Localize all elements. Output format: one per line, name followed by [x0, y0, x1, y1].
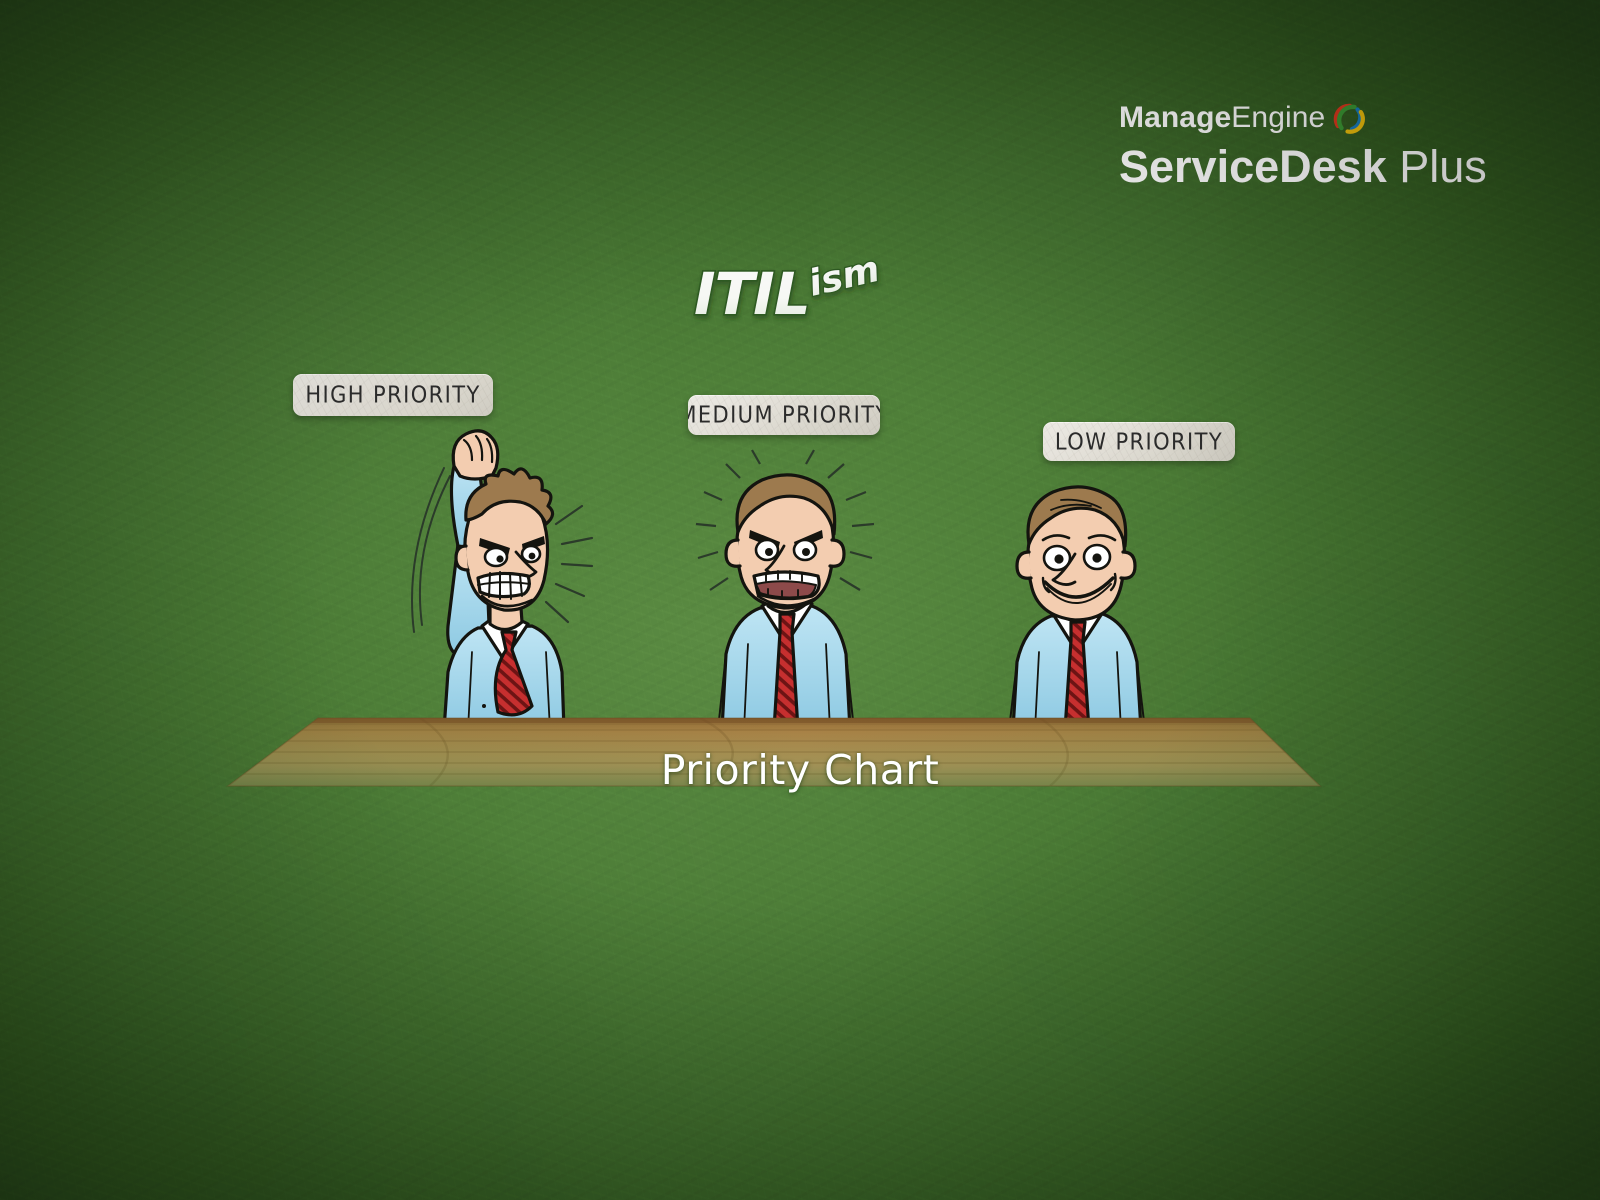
chart-caption: Priority Chart	[0, 746, 1600, 794]
product-main: ServiceDesk	[1119, 141, 1387, 192]
product-suffix: Plus	[1399, 141, 1487, 192]
label-low-priority-text: LOW PRIORITY	[1055, 429, 1223, 455]
manageengine-logo: ManageEngine ServiceDesk Plus	[1119, 100, 1539, 191]
label-medium-priority[interactable]: MEDIUM PRIORITY	[688, 395, 880, 435]
label-medium-priority-text: MEDIUM PRIORITY	[688, 402, 880, 428]
label-high-priority[interactable]: HIGH PRIORITY	[293, 374, 493, 416]
manageengine-text: ManageEngine	[1119, 103, 1325, 133]
character-low-priority	[985, 468, 1171, 730]
label-low-priority[interactable]: LOW PRIORITY	[1043, 422, 1235, 461]
chart-caption-text: Priority Chart	[661, 746, 940, 794]
title-main: ITIL	[694, 260, 810, 328]
character-medium-priority	[688, 448, 884, 730]
itilism-poster: ManageEngine ServiceDesk Plus	[0, 0, 1600, 1200]
brand-engine: Engine	[1231, 101, 1325, 134]
title-suffix: ism	[805, 252, 884, 305]
label-high-priority-text: HIGH PRIORITY	[305, 382, 480, 408]
manageengine-swirl-icon	[1331, 101, 1365, 135]
manageengine-wordmark: ManageEngine	[1119, 100, 1539, 136]
itilism-title: ITIL ism	[690, 252, 950, 342]
character-high-priority	[386, 420, 604, 730]
brand-manage: Manage	[1119, 101, 1231, 134]
product-name: ServiceDesk Plus	[1119, 143, 1539, 191]
